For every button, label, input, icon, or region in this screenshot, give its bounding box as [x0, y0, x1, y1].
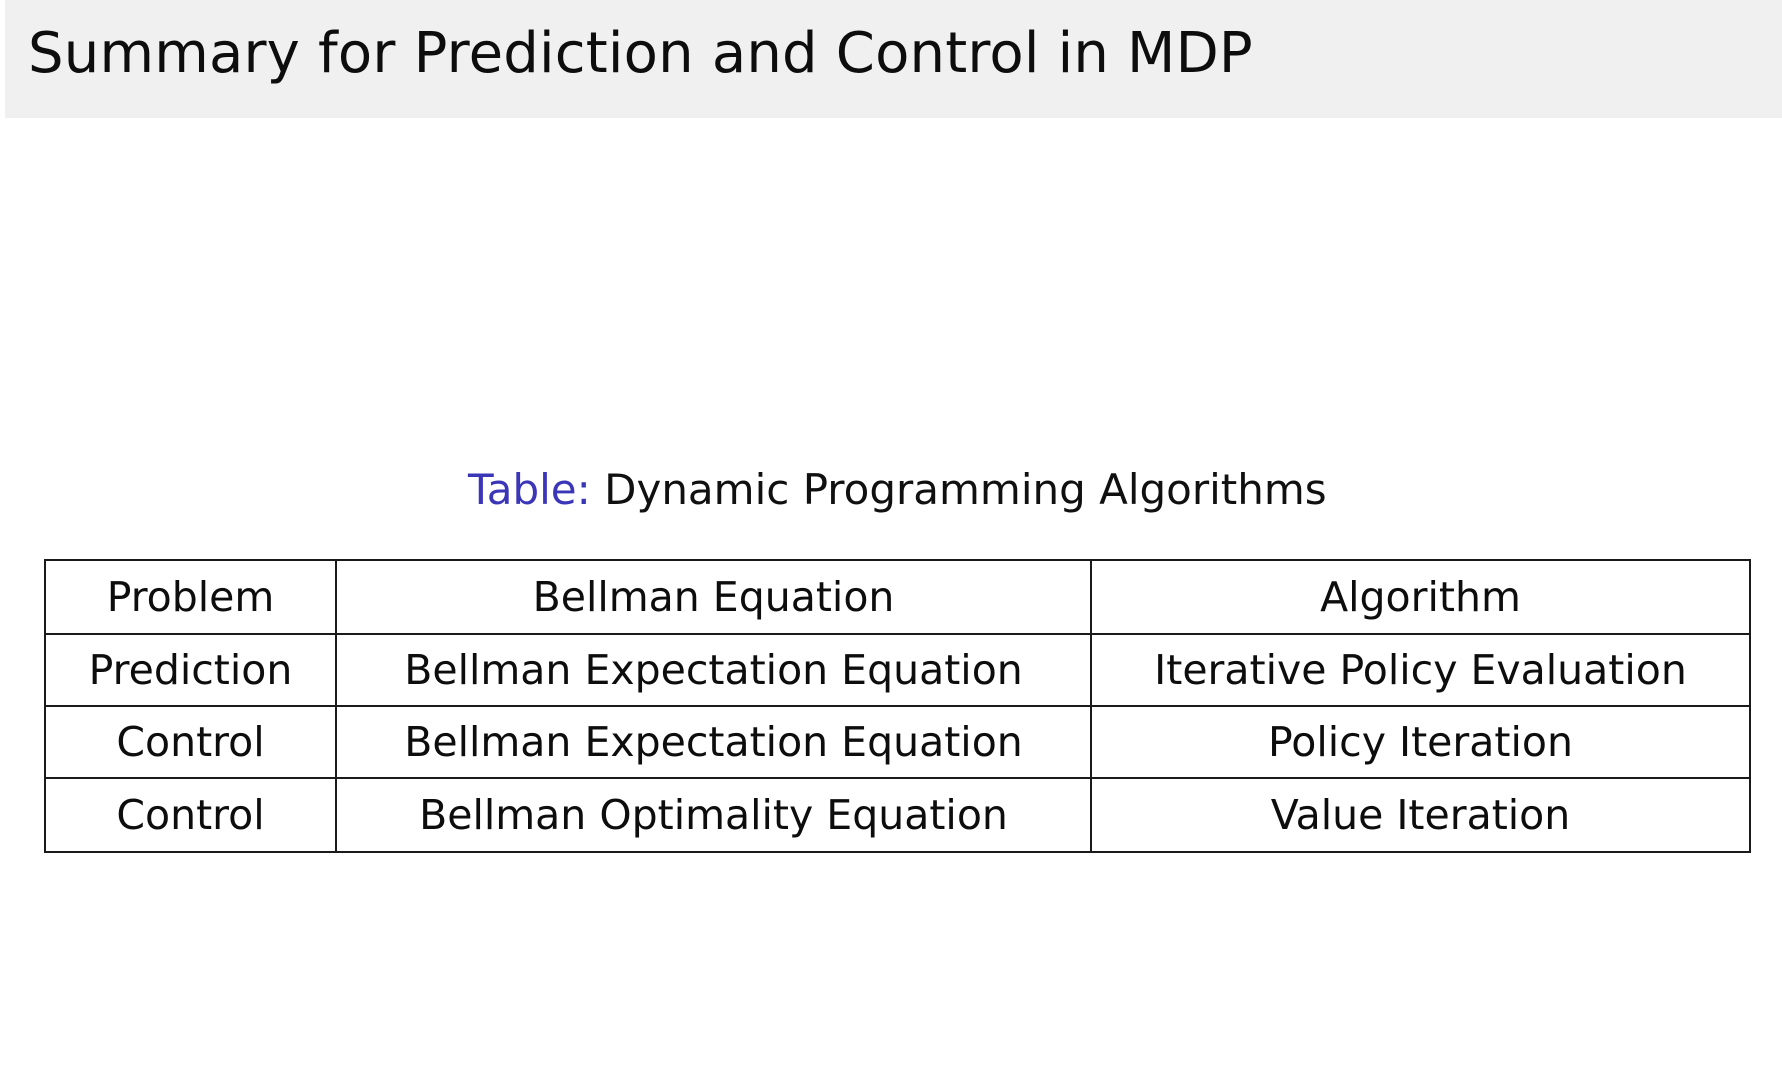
table-row: Prediction Bellman Expectation Equation …	[45, 634, 1750, 706]
cell-equation: Bellman Expectation Equation	[336, 634, 1091, 706]
table-caption-label: Table:	[468, 465, 591, 514]
title-bar-underline	[0, 118, 1782, 120]
cell-problem: Control	[45, 778, 336, 852]
table-row: Control Bellman Optimality Equation Valu…	[45, 778, 1750, 852]
page-title: Summary for Prediction and Control in MD…	[28, 16, 1253, 92]
table-header-row: Problem Bellman Equation Algorithm	[45, 560, 1750, 634]
cell-equation: Bellman Optimality Equation	[336, 778, 1091, 852]
table-caption-text: Dynamic Programming Algorithms	[591, 465, 1327, 514]
slide-title-bar: Summary for Prediction and Control in MD…	[0, 0, 1782, 118]
column-header-problem: Problem	[45, 560, 336, 634]
slide: Summary for Prediction and Control in MD…	[0, 0, 1782, 1080]
table-row: Control Bellman Expectation Equation Pol…	[45, 706, 1750, 778]
title-bar-left-edge	[0, 0, 5, 118]
cell-algorithm: Value Iteration	[1091, 778, 1750, 852]
cell-equation: Bellman Expectation Equation	[336, 706, 1091, 778]
cell-problem: Prediction	[45, 634, 336, 706]
cell-problem: Control	[45, 706, 336, 778]
column-header-algorithm: Algorithm	[1091, 560, 1750, 634]
column-header-equation: Bellman Equation	[336, 560, 1091, 634]
dynamic-programming-algorithms-table: Problem Bellman Equation Algorithm Predi…	[44, 559, 1751, 853]
cell-algorithm: Policy Iteration	[1091, 706, 1750, 778]
cell-algorithm: Iterative Policy Evaluation	[1091, 634, 1750, 706]
table-caption: Table: Dynamic Programming Algorithms	[468, 464, 1327, 516]
